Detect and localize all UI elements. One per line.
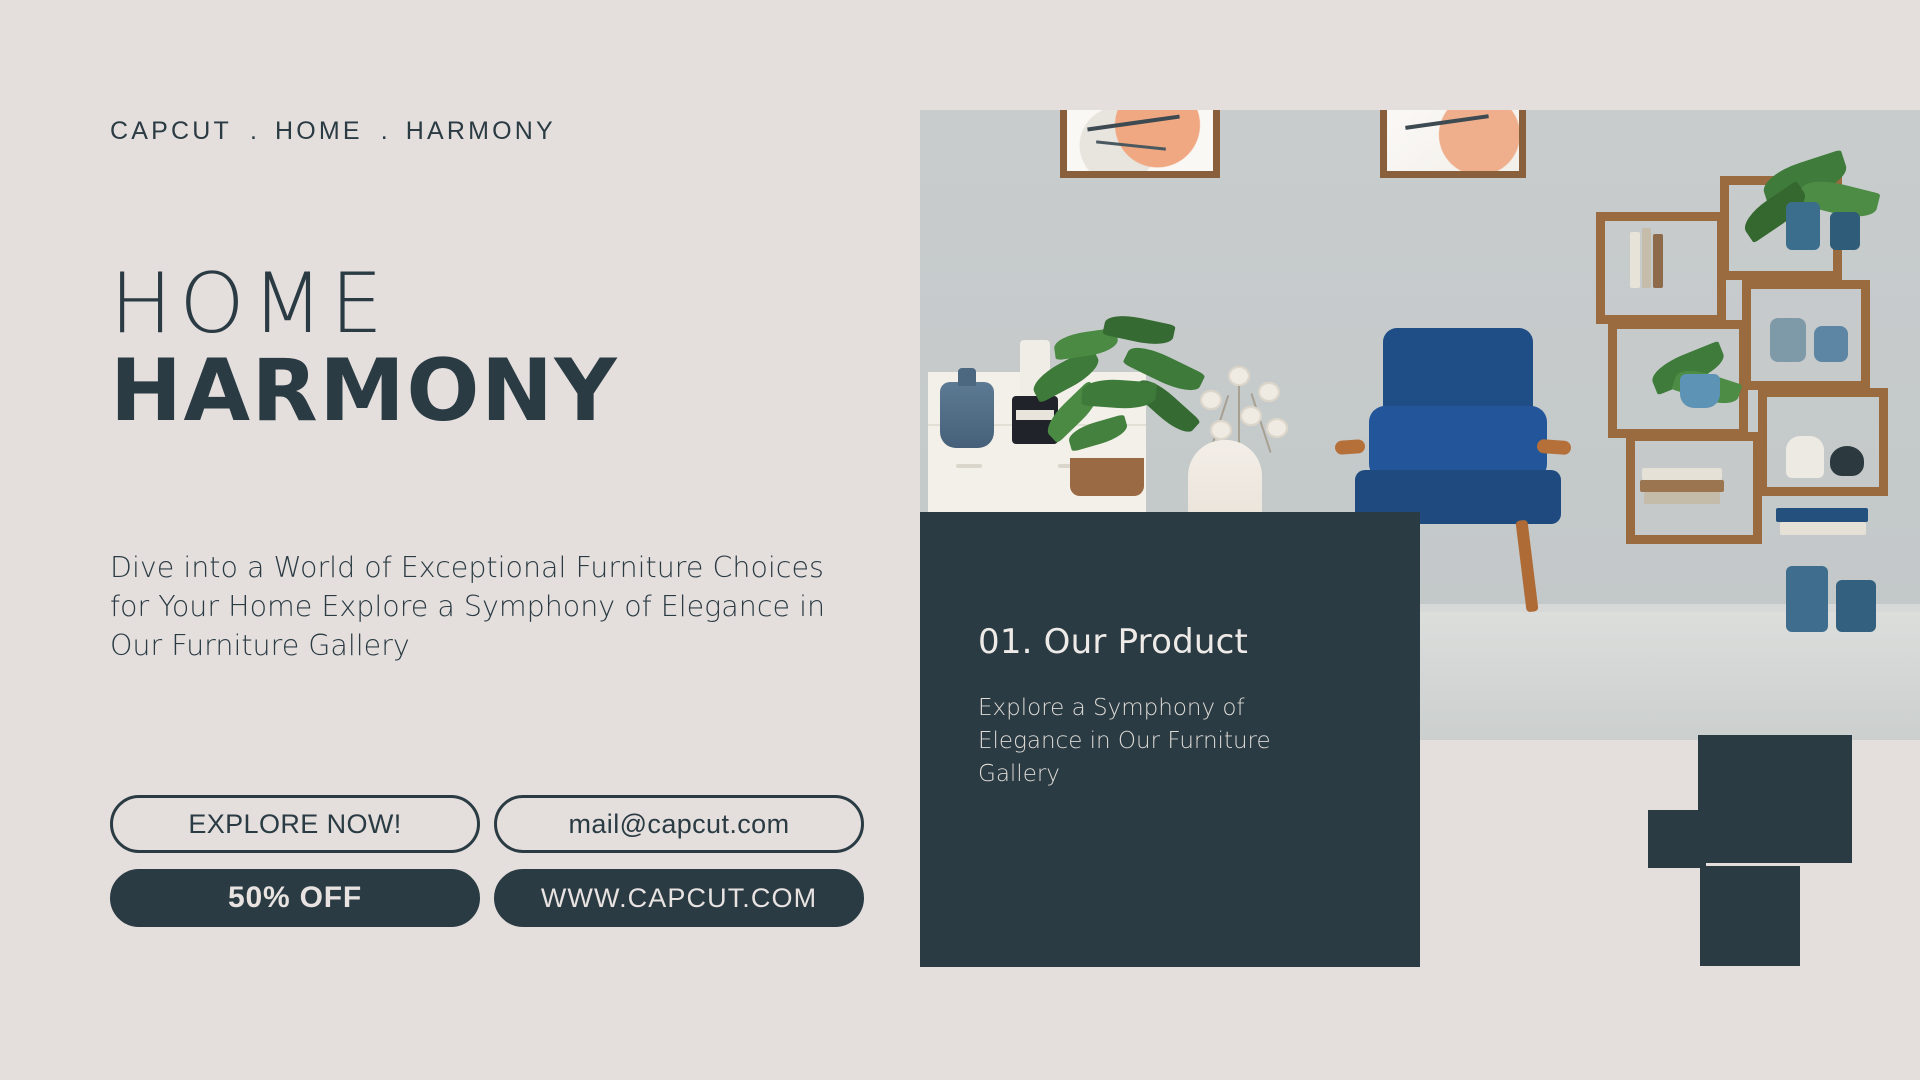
cotton-branch [1182, 348, 1302, 458]
card-description: Explore a Symphony of Elegance in Our Fu… [978, 692, 1348, 791]
wall-art-frame-right [1380, 110, 1526, 178]
wall-art-frame-left [1060, 110, 1220, 178]
shelf-vase [1830, 212, 1860, 250]
headline-line-one: HOME [110, 265, 618, 344]
explore-now-button[interactable]: EXPLORE NOW! [110, 795, 480, 853]
left-content-column: CAPCUT . HOME . HARMONY HOME HARMONY Div… [110, 0, 870, 1080]
shelf-cube [1742, 280, 1870, 390]
chair-leg [1515, 520, 1538, 613]
chair-cushion [1369, 406, 1547, 480]
book-stack [1644, 492, 1720, 504]
decorative-square-large [1698, 735, 1852, 863]
terracotta-pot [1070, 458, 1144, 496]
chair-arm-left [1335, 439, 1366, 455]
discount-badge-button[interactable]: 50% OFF [110, 869, 480, 927]
shelf-vase [1770, 318, 1806, 362]
headline-line-two: HARMONY [110, 348, 618, 436]
shelf-vase [1836, 580, 1876, 632]
nav-item-capcut[interactable]: CAPCUT [110, 117, 232, 146]
breadcrumb: CAPCUT . HOME . HARMONY [110, 117, 556, 146]
book-stack [1640, 480, 1724, 492]
book-stack [1776, 508, 1868, 522]
email-button[interactable]: mail@capcut.com [494, 795, 864, 853]
book [1653, 234, 1663, 288]
wooden-shelf-unit [1590, 168, 1920, 688]
discount-label: 50% OFF [228, 881, 362, 915]
page-title: HOME HARMONY [110, 265, 618, 436]
nav-separator-dot: . [232, 117, 275, 146]
nav-separator-dot: . [363, 117, 406, 146]
shelf-cube [1758, 388, 1888, 496]
card-title: 01. Our Product [978, 622, 1368, 662]
shelf-vase [1786, 566, 1828, 632]
explore-now-label: EXPLORE NOW! [188, 809, 401, 840]
shelf-vase [1786, 202, 1820, 250]
website-button[interactable]: WWW.CAPCUT.COM [494, 869, 864, 927]
blue-vase [940, 382, 994, 448]
nav-item-home[interactable]: HOME [275, 117, 363, 146]
decorative-square-small [1648, 810, 1706, 868]
intro-paragraph: Dive into a World of Exceptional Furnitu… [110, 548, 835, 665]
shelf-vase [1786, 436, 1824, 478]
shelf-bowl [1830, 446, 1864, 476]
book-stack [1642, 468, 1722, 480]
cta-row-primary: EXPLORE NOW! mail@capcut.com [110, 795, 864, 853]
chair-arm-right [1537, 439, 1572, 455]
cta-button-group: EXPLORE NOW! mail@capcut.com 50% OFF WWW… [110, 795, 864, 943]
book [1630, 232, 1640, 288]
book-stack [1780, 522, 1866, 535]
cta-row-secondary: 50% OFF WWW.CAPCUT.COM [110, 869, 864, 927]
book [1642, 228, 1651, 288]
product-info-card: 01. Our Product Explore a Symphony of El… [920, 512, 1420, 967]
shelf-vase [1814, 326, 1848, 362]
website-label: WWW.CAPCUT.COM [541, 883, 817, 914]
shelf-planter [1680, 374, 1720, 408]
email-label: mail@capcut.com [569, 809, 790, 840]
nav-item-harmony[interactable]: HARMONY [406, 117, 556, 146]
decorative-square-medium [1700, 866, 1800, 966]
